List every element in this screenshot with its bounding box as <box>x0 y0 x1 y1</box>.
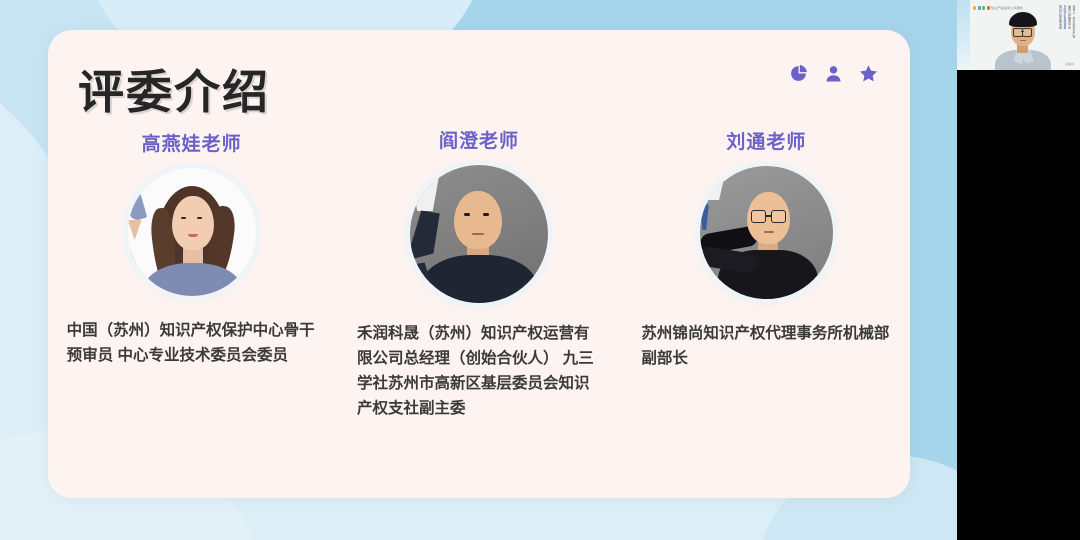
webcam-video-overlay[interactable]: 知识产权运营公共服务 主讲人：苏州市知识产权 运营公共服务平台 专题培训直播课堂… <box>957 0 1080 70</box>
webcam-vtext-line: 运营公共服务平台 <box>1068 5 1071 61</box>
page-title: 评委介绍 <box>78 56 270 122</box>
judge-avatar <box>700 166 833 299</box>
judge-bio: 中国（苏州）知识产权保护中心骨干预审员 中心专业技术委员会委员 <box>67 318 317 368</box>
content-card: 评委介绍 <box>48 30 910 498</box>
webcam-credit-text: 直播中 <box>1065 62 1074 66</box>
judges-list: 高燕娃老师 <box>48 126 910 421</box>
judge-card: 刘通老师 <box>623 126 910 421</box>
presentation-slide: 评委介绍 <box>0 0 957 540</box>
decorative-icon-group <box>789 64 878 83</box>
judge-card: 阎澄老师 <box>335 126 622 421</box>
person-icon <box>824 64 843 83</box>
judge-bio: 禾润科晟（苏州）知识产权运营有限公司总经理（创始合伙人） 九三学社苏州市高新区基… <box>357 321 601 421</box>
webcam-vtext-line: 专题培训直播课堂 <box>1063 5 1066 61</box>
judge-bio: 苏州锦尚知识产权代理事务所机械部副部长 <box>641 321 891 371</box>
judge-avatar <box>410 165 548 303</box>
webcam-backdrop-band <box>957 0 970 70</box>
judge-name: 高燕娃老师 <box>142 129 242 156</box>
webcam-slide-vertical-text: 主讲人：苏州市知识产权 运营公共服务平台 专题培训直播课堂 知识产权实务专题 <box>1049 5 1075 63</box>
judge-name: 阎澄老师 <box>439 126 519 153</box>
screen: 评委介绍 <box>0 0 1080 540</box>
webcam-vtext-line: 知识产权实务专题 <box>1059 5 1062 61</box>
webcam-logo-icon <box>973 6 990 10</box>
pie-chart-icon <box>789 64 808 83</box>
judge-name: 刘通老师 <box>726 127 806 154</box>
judge-card: 高燕娃老师 <box>48 126 335 421</box>
webcam-vtext-line: 主讲人：苏州市知识产权 <box>1072 5 1075 61</box>
webcam-presenter <box>999 8 1045 70</box>
judge-avatar <box>128 168 256 296</box>
star-icon <box>859 64 878 83</box>
